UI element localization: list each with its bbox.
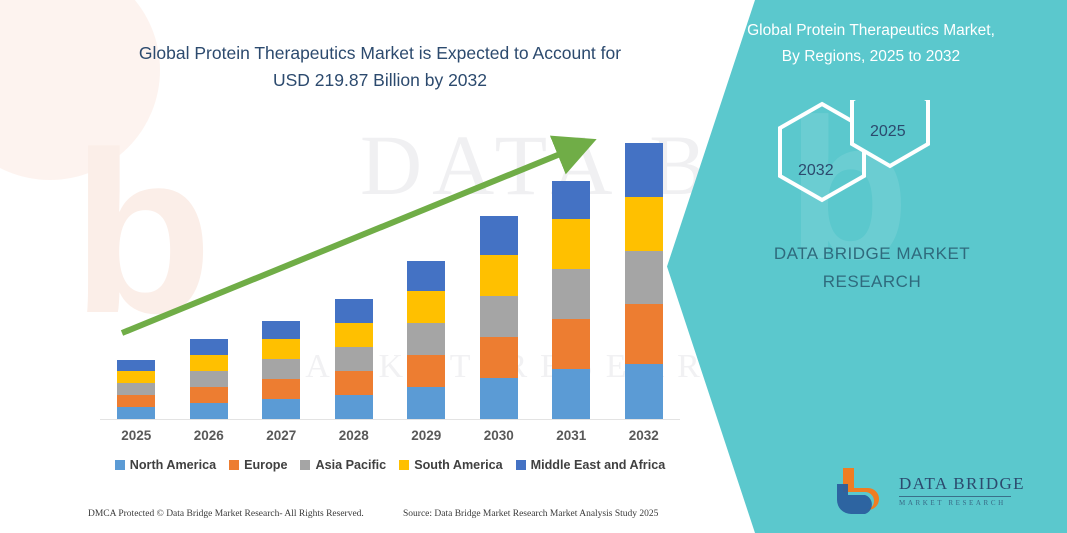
logo-subtitle: MARKET RESEARCH bbox=[899, 499, 1006, 507]
brand-name-line2: RESEARCH bbox=[707, 268, 1037, 296]
brand-name: DATA BRIDGE MARKET RESEARCH bbox=[707, 240, 1037, 296]
growth-arrow-icon bbox=[100, 125, 680, 425]
page-title: Global Protein Therapeutics Market is Ex… bbox=[80, 40, 680, 94]
logo-divider bbox=[899, 496, 1011, 497]
chart-x-axis: 20252026202720282029203020312032 bbox=[100, 428, 680, 450]
legend-swatch-icon bbox=[115, 460, 125, 470]
legend-item-0[interactable]: North America bbox=[115, 458, 216, 472]
legend-item-4[interactable]: Middle East and Africa bbox=[516, 458, 666, 472]
hexagon-2025-label: 2025 bbox=[870, 123, 906, 141]
x-axis-label-2029: 2029 bbox=[396, 428, 456, 443]
footer-copyright: DMCA Protected © Data Bridge Market Rese… bbox=[88, 509, 364, 519]
legend-label: Middle East and Africa bbox=[531, 458, 666, 472]
legend-swatch-icon bbox=[300, 460, 310, 470]
x-axis-label-2032: 2032 bbox=[614, 428, 674, 443]
panel-title: Global Protein Therapeutics Market, By R… bbox=[701, 18, 1041, 70]
page-title-line1: Global Protein Therapeutics Market is Ex… bbox=[80, 40, 680, 67]
chart-legend: North AmericaEuropeAsia PacificSouth Ame… bbox=[100, 458, 680, 472]
legend-item-2[interactable]: Asia Pacific bbox=[300, 458, 386, 472]
x-axis-label-2028: 2028 bbox=[324, 428, 384, 443]
legend-label: South America bbox=[414, 458, 502, 472]
legend-swatch-icon bbox=[229, 460, 239, 470]
brand-logo: DATA BRIDGE MARKET RESEARCH bbox=[835, 466, 1035, 522]
brand-name-line1: DATA BRIDGE MARKET bbox=[707, 240, 1037, 268]
x-axis-label-2031: 2031 bbox=[541, 428, 601, 443]
legend-item-1[interactable]: Europe bbox=[229, 458, 287, 472]
year-hexagons: 2032 2025 bbox=[762, 100, 972, 210]
x-axis-label-2030: 2030 bbox=[469, 428, 529, 443]
infographic-page: b DATA BRIDGE MARKET RESEARCH Global Pro… bbox=[0, 0, 1067, 533]
data-bridge-logo-icon bbox=[835, 466, 893, 514]
panel-title-line2: By Regions, 2025 to 2032 bbox=[701, 44, 1041, 70]
legend-label: North America bbox=[130, 458, 216, 472]
footer-source: Source: Data Bridge Market Research Mark… bbox=[403, 509, 658, 519]
x-axis-label-2027: 2027 bbox=[251, 428, 311, 443]
legend-swatch-icon bbox=[399, 460, 409, 470]
panel-title-line1: Global Protein Therapeutics Market, bbox=[701, 18, 1041, 44]
logo-title: DATA BRIDGE bbox=[899, 474, 1025, 494]
legend-swatch-icon bbox=[516, 460, 526, 470]
x-axis-label-2025: 2025 bbox=[106, 428, 166, 443]
hexagon-2032-label: 2032 bbox=[798, 162, 834, 180]
legend-label: Asia Pacific bbox=[315, 458, 386, 472]
x-axis-label-2026: 2026 bbox=[179, 428, 239, 443]
page-title-line2: USD 219.87 Billion by 2032 bbox=[80, 67, 680, 94]
legend-item-3[interactable]: South America bbox=[399, 458, 502, 472]
chart-panel: b DATA BRIDGE MARKET RESEARCH Global Pro… bbox=[0, 0, 760, 533]
legend-label: Europe bbox=[244, 458, 287, 472]
